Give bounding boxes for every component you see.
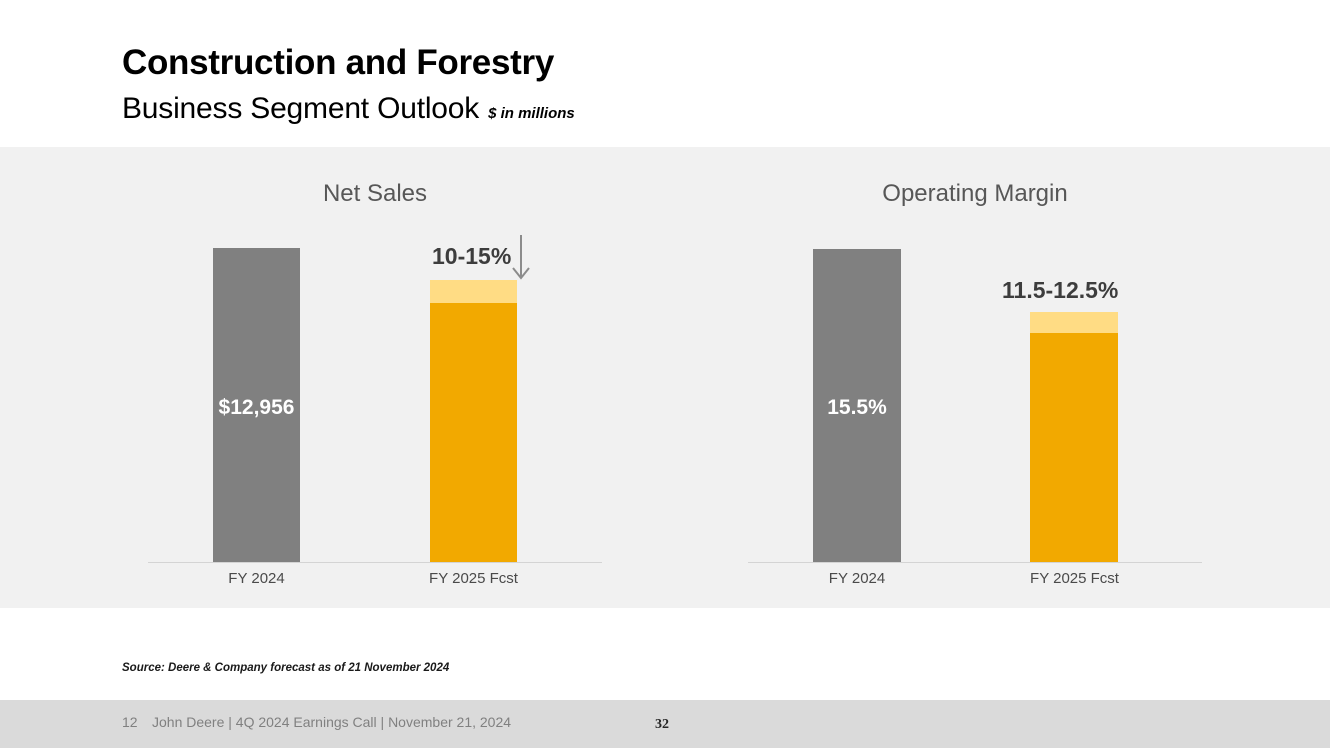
- range-label-operating-margin: 11.5-12.5%: [1002, 277, 1118, 304]
- category-label-net-sales-fy2025: FY 2025 Fcst: [410, 570, 537, 587]
- chart-net-sales: Net Sales $12,956 10-15% FY 2024: [110, 147, 640, 608]
- footer-slide-number: 12: [122, 714, 138, 730]
- chart-operating-margin: Operating Margin 15.5% 11.5-12.5% FY 202…: [710, 147, 1240, 608]
- bar-operating-margin-fy2025: [1030, 333, 1118, 562]
- slide: Construction and Forestry Business Segme…: [0, 0, 1330, 748]
- category-label-operating-margin-fy2024: FY 2024: [813, 570, 901, 587]
- source-area: Source: Deere & Company forecast as of 2…: [0, 608, 1330, 700]
- bar-cap-net-sales-fy2025: [430, 280, 517, 303]
- category-label-net-sales-fy2024: FY 2024: [213, 570, 300, 587]
- category-label-operating-margin-fy2025: FY 2025 Fcst: [1011, 570, 1138, 587]
- x-axis-line: [148, 562, 602, 563]
- bar-net-sales-fy2024: $12,956: [213, 248, 300, 562]
- footer-deck-info: John Deere | 4Q 2024 Earnings Call | Nov…: [152, 714, 511, 730]
- page-subtitle: Business Segment Outlook: [122, 92, 479, 126]
- units-note: $ in millions: [488, 105, 575, 122]
- range-label-net-sales: 10-15%: [432, 243, 511, 270]
- bar-operating-margin-fy2024: 15.5%: [813, 249, 901, 562]
- page-title: Construction and Forestry: [122, 43, 554, 83]
- slide-header: Construction and Forestry Business Segme…: [0, 0, 1330, 147]
- charts-panel: Net Sales $12,956 10-15% FY 2024: [0, 147, 1330, 608]
- source-note: Source: Deere & Company forecast as of 2…: [122, 662, 449, 674]
- bar-net-sales-fy2025: [430, 303, 517, 562]
- bar-cap-operating-margin-fy2025: [1030, 312, 1118, 333]
- subtitle-row: Business Segment Outlook $ in millions: [122, 92, 575, 126]
- plot-area-operating-margin: 15.5% 11.5-12.5% FY 2024 FY 2025 Fcst: [710, 147, 1240, 608]
- plot-area-net-sales: $12,956 10-15% FY 2024 FY 2025 Fcst: [110, 147, 640, 608]
- slide-footer: 12 John Deere | 4Q 2024 Earnings Call | …: [0, 700, 1330, 748]
- down-arrow-icon: [510, 235, 532, 285]
- x-axis-line: [748, 562, 1202, 563]
- bar-value-net-sales-fy2024: $12,956: [213, 396, 300, 420]
- bar-value-operating-margin-fy2024: 15.5%: [813, 396, 901, 420]
- page-number: 32: [655, 717, 669, 733]
